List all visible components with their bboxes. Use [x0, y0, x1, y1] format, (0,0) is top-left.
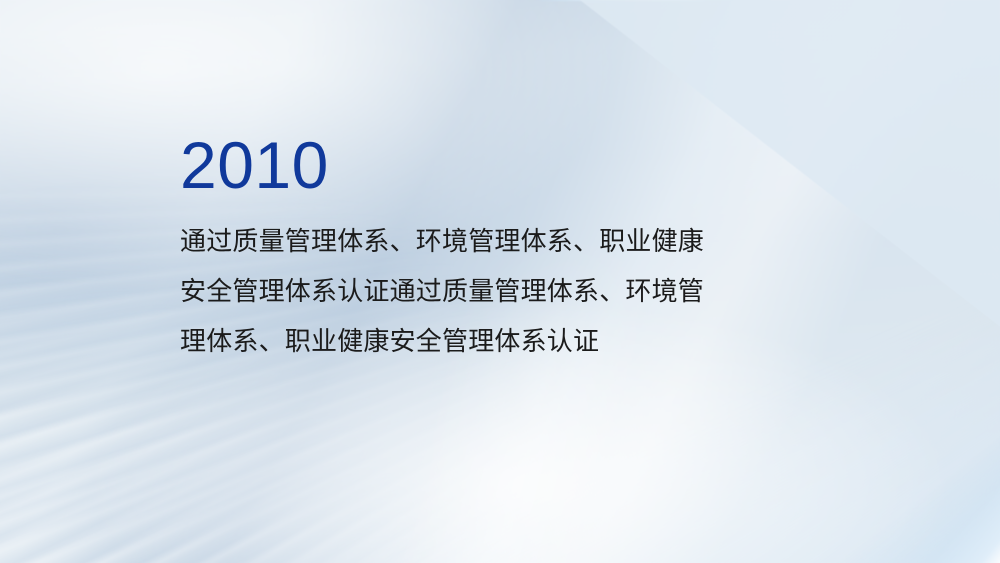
year-heading: 2010	[180, 132, 760, 198]
slide-body-text: 通过质量管理体系、环境管理体系、职业健康安全管理体系认证通过质量管理体系、环境管…	[180, 216, 728, 366]
slide-text-block: 2010 通过质量管理体系、环境管理体系、职业健康安全管理体系认证通过质量管理体…	[180, 132, 760, 366]
presentation-slide: 2010 通过质量管理体系、环境管理体系、职业健康安全管理体系认证通过质量管理体…	[0, 0, 1000, 563]
